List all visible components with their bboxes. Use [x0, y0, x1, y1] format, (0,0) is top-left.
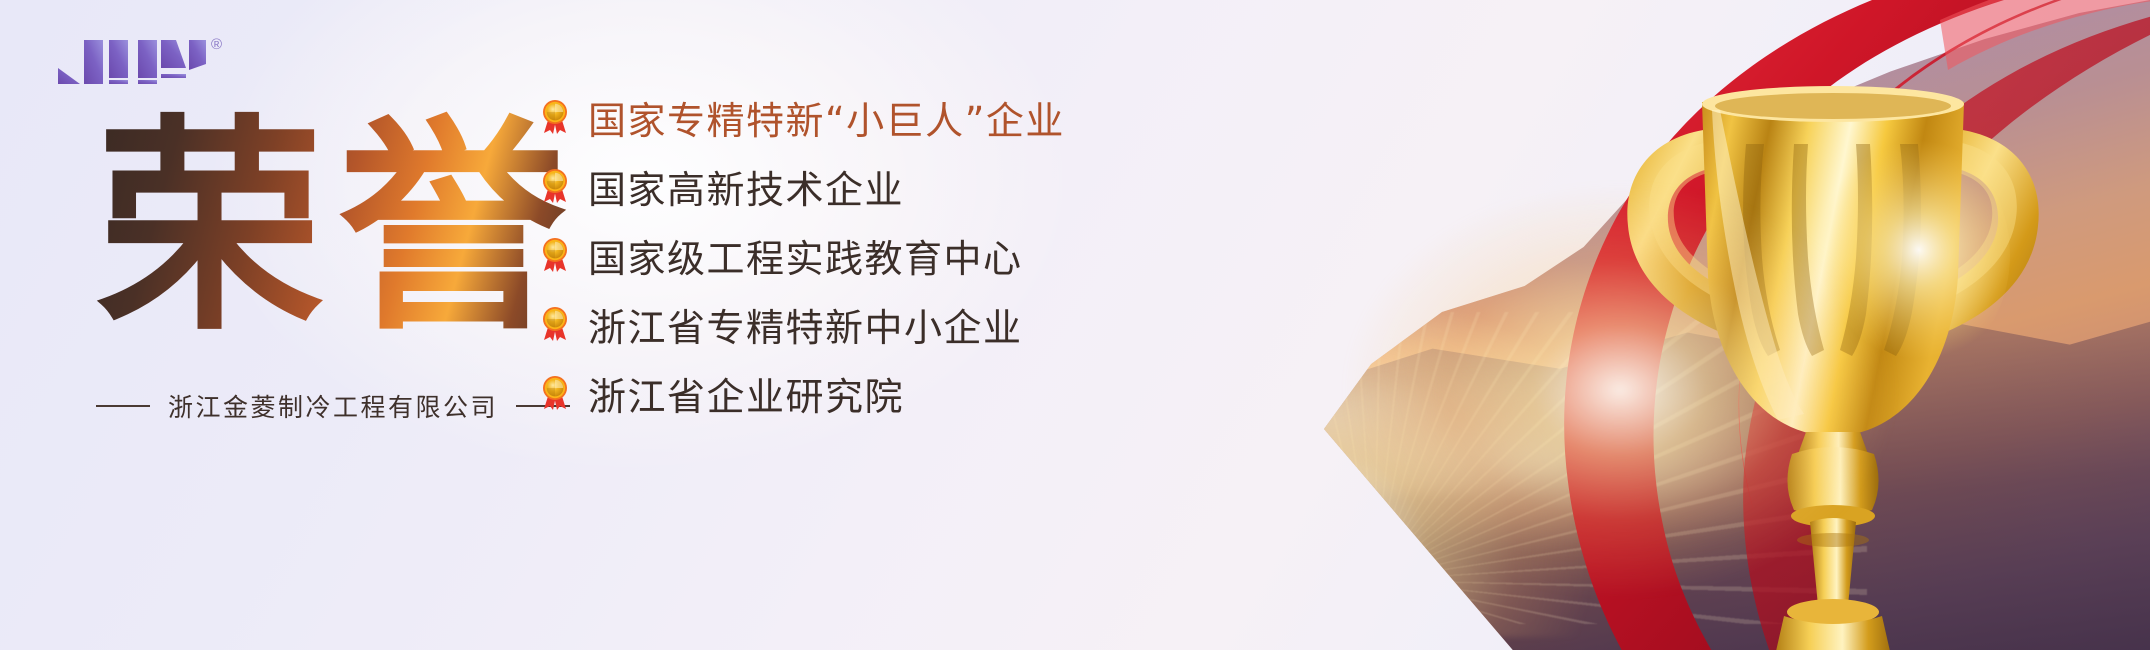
- registered-trademark-icon: ®: [211, 36, 222, 53]
- honor-label: 国家级工程实践教育中心: [588, 228, 1023, 283]
- medal-icon: [540, 100, 570, 134]
- company-name-block: 浙江金菱制冷工程有限公司: [96, 388, 508, 424]
- honor-list-item: 国家级工程实践教育中心: [540, 226, 1065, 284]
- honor-label: 浙江省企业研究院: [588, 366, 904, 421]
- medal-icon: [540, 169, 570, 203]
- medal-icon: [540, 376, 570, 410]
- rule-left: [96, 405, 150, 407]
- company-logo[interactable]: ®: [58, 34, 222, 84]
- honor-banner: ® 荣誉 浙江金菱制冷工程有限公司: [0, 0, 2150, 650]
- honor-label: 浙江省专精特新中小企业: [588, 297, 1023, 352]
- honor-list-item: 浙江省专精特新中小企业: [540, 295, 1065, 353]
- honor-list-item: 浙江省企业研究院: [540, 364, 1065, 422]
- photo-edge-fade: [970, 0, 2150, 650]
- medal-icon: [540, 307, 570, 341]
- page-title: 荣誉: [96, 108, 580, 350]
- honor-list-item: 国家高新技术企业: [540, 157, 1065, 215]
- photo-background: [970, 0, 2150, 650]
- jllt-logo-mark-icon: [58, 34, 206, 84]
- company-name-text: 浙江金菱制冷工程有限公司: [168, 388, 498, 424]
- title-text: 荣誉: [96, 108, 580, 350]
- honor-label: 国家高新技术企业: [588, 159, 904, 214]
- honor-list-item: 国家专精特新“小巨人”企业: [540, 88, 1065, 146]
- honor-label: 国家专精特新“小巨人”企业: [588, 90, 1065, 145]
- medal-icon: [540, 238, 570, 272]
- honor-list: 国家专精特新“小巨人”企业 国家高新技术企业: [540, 88, 1065, 433]
